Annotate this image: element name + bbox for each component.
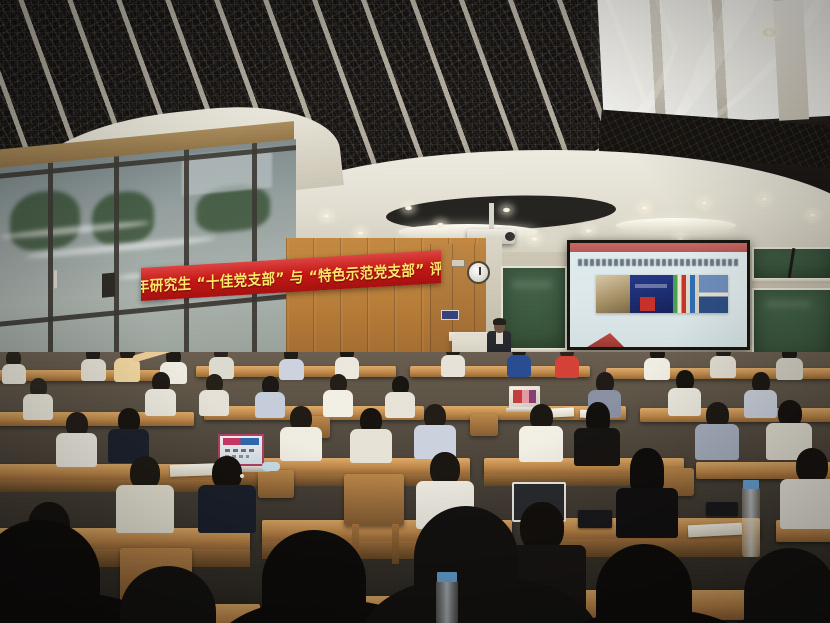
downlight-icon xyxy=(436,222,445,228)
attendee-torso xyxy=(145,389,176,416)
downlight-icon xyxy=(404,205,413,211)
bottle-cap-icon xyxy=(437,572,457,582)
attendee-torso xyxy=(574,428,620,466)
downlight-icon xyxy=(640,205,649,211)
attendee-torso xyxy=(441,355,465,377)
attendee-torso xyxy=(81,359,106,381)
attendee-torso xyxy=(255,392,285,418)
smartphone xyxy=(578,510,612,528)
downlight-icon xyxy=(322,213,331,219)
window-vent xyxy=(102,273,115,298)
outdoor-foliage xyxy=(10,188,80,253)
attendee-torso xyxy=(279,359,304,380)
attendee-torso xyxy=(323,390,353,417)
audience-area xyxy=(0,352,830,623)
attendee-torso xyxy=(507,355,531,377)
slide-photo-campus xyxy=(596,275,630,313)
foreground-head-silhouette xyxy=(744,548,830,623)
downlight-icon xyxy=(760,196,769,202)
downlight-icon xyxy=(808,212,817,218)
attendee-torso xyxy=(280,427,322,461)
projection-screen-surface xyxy=(570,243,747,347)
attendee-torso xyxy=(2,364,26,384)
bottle-cap-icon xyxy=(743,480,759,489)
lecture-hall-photo: 2020年研究生 “十佳党支部” 与 “特色示范党支部” 评选决赛 xyxy=(0,0,830,623)
slide-top-accent-bar xyxy=(570,243,747,252)
attendee-torso xyxy=(199,390,229,416)
slide-photo-assembly xyxy=(630,275,672,313)
downlight-icon xyxy=(356,230,365,236)
laptop-screen-text xyxy=(225,449,255,452)
attendee-torso xyxy=(644,358,670,380)
attendee-torso xyxy=(555,356,579,378)
wall-clock-icon xyxy=(467,261,490,284)
attendee-torso xyxy=(616,488,678,538)
chair-leg xyxy=(392,524,399,564)
attendee-torso xyxy=(56,433,97,467)
outdoor-foliage xyxy=(92,189,154,247)
attendee-torso xyxy=(116,485,174,533)
slide-photo-strip xyxy=(596,275,728,313)
attendee-torso xyxy=(23,394,53,420)
attendee-torso xyxy=(744,390,777,418)
window-handle xyxy=(54,270,57,288)
laptop-screen-content xyxy=(513,390,536,403)
water-bottle xyxy=(742,487,760,557)
attendee-torso xyxy=(780,479,830,529)
slide-photo-flags xyxy=(673,275,699,313)
slide-title-text xyxy=(578,259,739,266)
presenter-shirt xyxy=(496,332,503,344)
attendee-torso xyxy=(198,485,256,533)
chair xyxy=(344,474,404,526)
slide-photo-books xyxy=(699,275,728,313)
laptop-screen-content xyxy=(223,438,259,445)
chalk-smudge xyxy=(766,300,810,308)
attendee-torso xyxy=(695,424,739,460)
downlight-icon xyxy=(502,207,511,213)
window-mullion xyxy=(252,143,257,373)
attendee-torso xyxy=(710,356,736,378)
ceiling-pendant-light xyxy=(763,28,776,37)
door-sign-icon xyxy=(451,259,465,267)
attendee-torso xyxy=(350,429,392,463)
attendee-torso xyxy=(776,358,803,380)
desk-front-panel xyxy=(0,480,220,492)
paper-sheets xyxy=(170,463,218,477)
ceiling-front-oval-light-2 xyxy=(616,218,736,233)
ceiling-column-right xyxy=(773,0,809,121)
presenter-hair xyxy=(493,318,506,325)
chair xyxy=(258,470,294,498)
chair xyxy=(470,414,498,436)
chalk-smudge xyxy=(512,280,552,289)
water-bottle xyxy=(436,580,458,623)
attendee-torso xyxy=(519,426,563,462)
attendee-torso xyxy=(385,392,415,418)
door-sign-icon xyxy=(441,310,459,320)
attendee-torso xyxy=(668,388,701,416)
projection-screen xyxy=(567,240,750,350)
face-mask xyxy=(262,462,280,471)
tablet-white xyxy=(240,474,244,478)
downlight-icon xyxy=(700,200,709,206)
downlight-icon xyxy=(584,228,593,234)
slide-footer-graphic xyxy=(584,333,626,347)
smartphone xyxy=(706,502,738,516)
